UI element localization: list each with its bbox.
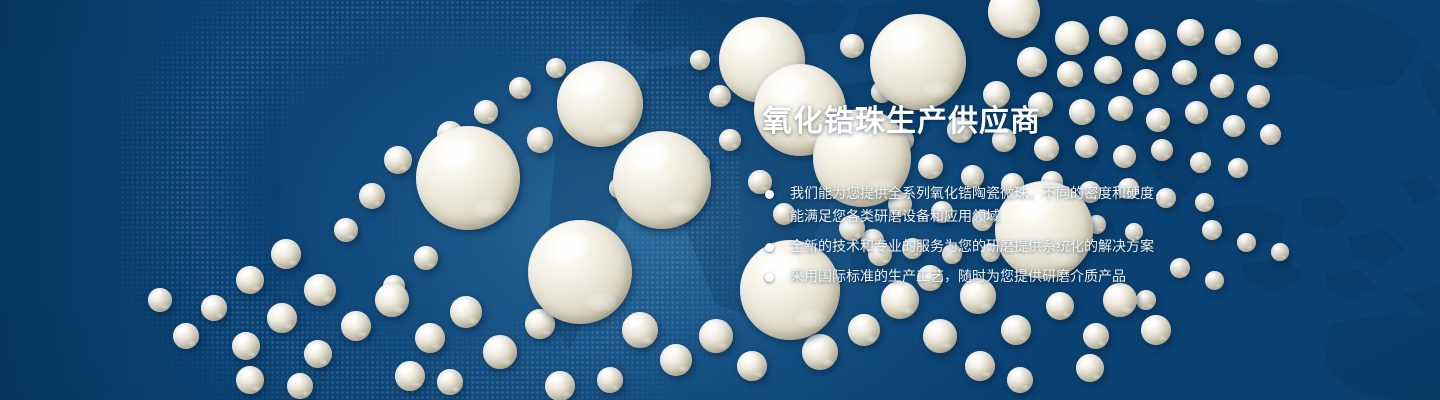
ceramic-bead	[173, 323, 199, 349]
list-item: 全新的技术和专业的服务为您的研磨提供系统化的解决方案	[762, 236, 1232, 259]
ceramic-bead	[545, 371, 575, 400]
ceramic-bead	[474, 100, 498, 124]
ceramic-bead	[622, 312, 658, 348]
ceramic-bead	[1076, 354, 1104, 382]
ceramic-bead	[1094, 56, 1122, 84]
ceramic-bead	[1247, 85, 1270, 108]
ceramic-bead	[509, 77, 531, 99]
ceramic-bead	[737, 351, 767, 381]
feature-bullet-list: 我们能为您提供全系列氧化锆陶瓷微珠，不同的密度和硬度， 能满足您各类研磨设备和应…	[762, 183, 1232, 289]
ceramic-bead	[597, 367, 623, 393]
ceramic-bead	[1177, 19, 1204, 46]
ceramic-bead	[802, 334, 838, 370]
ceramic-bead	[1099, 16, 1128, 45]
ceramic-bead	[1017, 47, 1047, 77]
ceramic-bead	[450, 296, 482, 328]
ceramic-bead	[483, 335, 517, 369]
ceramic-bead	[709, 85, 731, 107]
ceramic-bead	[416, 126, 520, 230]
ceramic-bead	[415, 323, 445, 353]
promotional-banner: 氧化锆珠生产供应商 我们能为您提供全系列氧化锆陶瓷微珠，不同的密度和硬度， 能满…	[0, 0, 1440, 400]
ceramic-bead	[1057, 61, 1083, 87]
ceramic-bead	[557, 61, 643, 147]
ceramic-bead	[334, 218, 358, 242]
ceramic-bead	[1133, 69, 1159, 95]
ceramic-bead	[1254, 44, 1278, 68]
ceramic-bead	[1172, 60, 1197, 85]
ceramic-bead	[988, 0, 1040, 38]
ceramic-bead	[699, 319, 733, 353]
ceramic-bead	[148, 288, 172, 312]
ceramic-bead	[1237, 233, 1256, 252]
bullet-dot-icon	[765, 190, 774, 199]
bullet-text-line1: 采用国际标准的生产工艺，随时为您提供研磨介质产品	[790, 269, 1126, 285]
ceramic-bead	[870, 14, 966, 110]
ceramic-bead	[267, 303, 297, 333]
ceramic-bead	[546, 58, 566, 78]
bullet-dot-icon	[765, 273, 774, 282]
ceramic-bead	[304, 274, 336, 306]
ceramic-bead	[341, 311, 371, 341]
ceramic-bead	[201, 295, 227, 321]
ceramic-bead	[527, 127, 553, 153]
ceramic-bead	[923, 319, 957, 353]
banner-text-block: 氧化锆珠生产供应商 我们能为您提供全系列氧化锆陶瓷微珠，不同的密度和硬度， 能满…	[762, 104, 1232, 296]
bullet-dot-icon	[765, 243, 774, 252]
ceramic-bead	[236, 266, 264, 294]
bullet-text-line1: 全新的技术和专业的服务为您的研磨提供系统化的解决方案	[790, 239, 1154, 255]
ceramic-bead	[287, 373, 313, 399]
list-item: 采用国际标准的生产工艺，随时为您提供研磨介质产品	[762, 266, 1232, 289]
ceramic-bead	[1055, 21, 1089, 55]
ceramic-bead	[660, 344, 692, 376]
ceramic-bead	[1001, 315, 1031, 345]
list-item: 我们能为您提供全系列氧化锆陶瓷微珠，不同的密度和硬度， 能满足您各类研磨设备和应…	[762, 183, 1232, 229]
bullet-text-line1: 我们能为您提供全系列氧化锆陶瓷微珠，不同的密度和硬度，	[790, 186, 1168, 202]
ceramic-bead	[719, 129, 741, 151]
ceramic-bead	[375, 283, 409, 317]
ceramic-bead	[232, 332, 260, 360]
ceramic-bead	[395, 361, 425, 391]
ceramic-bead	[236, 366, 264, 394]
ceramic-bead	[840, 34, 864, 58]
ceramic-bead	[437, 369, 463, 395]
bullet-text-line2: 能满足您各类研磨设备和应用领域	[790, 206, 1232, 229]
ceramic-bead	[1007, 367, 1033, 393]
banner-headline: 氧化锆珠生产供应商	[762, 104, 1232, 139]
ceramic-bead	[1271, 243, 1289, 261]
ceramic-bead	[1210, 74, 1234, 98]
ceramic-bead	[271, 239, 301, 269]
ceramic-bead	[1141, 315, 1171, 345]
ceramic-bead	[304, 340, 332, 368]
ceramic-bead	[1260, 124, 1281, 145]
ceramic-bead	[414, 246, 438, 270]
ceramic-bead	[1135, 29, 1166, 60]
ceramic-bead	[384, 146, 412, 174]
ceramic-bead	[1083, 323, 1109, 349]
ceramic-bead	[848, 314, 880, 346]
ceramic-bead	[690, 50, 710, 70]
ceramic-bead	[359, 183, 385, 209]
ceramic-bead	[1215, 29, 1241, 55]
ceramic-bead	[528, 220, 632, 324]
ceramic-bead	[613, 131, 711, 229]
ceramic-bead	[965, 351, 995, 381]
